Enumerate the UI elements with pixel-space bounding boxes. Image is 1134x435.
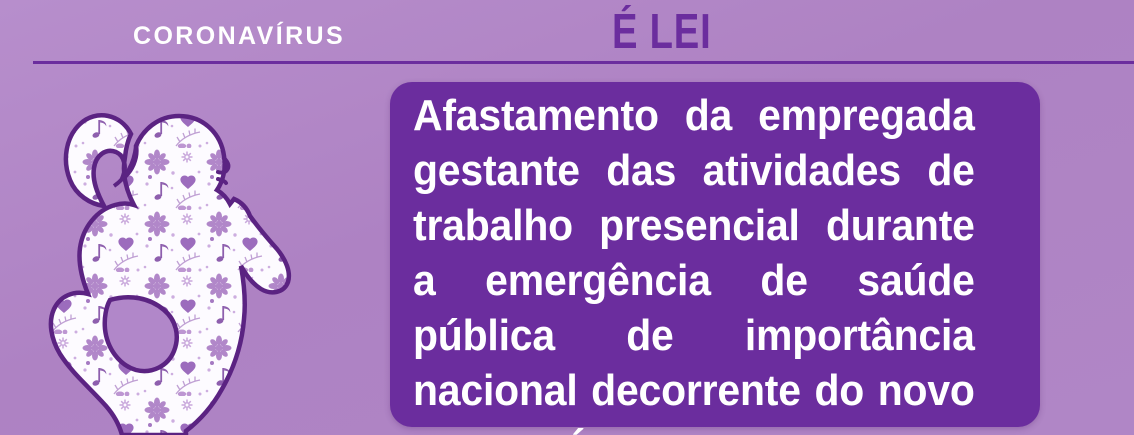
coronavirus-law-banner: CORONAVÍRUS É LEI xyxy=(0,0,1134,435)
silhouette-body xyxy=(51,115,289,435)
banner-header: CORONAVÍRUS É LEI xyxy=(0,0,1134,64)
kicker-label: CORONAVÍRUS xyxy=(133,24,345,49)
pregnant-woman-silhouette xyxy=(18,86,308,435)
law-text-body: Afastamento da empregada gestante das at… xyxy=(413,88,975,435)
law-text-card: Afastamento da empregada gestante das at… xyxy=(390,82,1040,427)
header-divider xyxy=(33,61,1134,64)
is-law-badge: É LEI xyxy=(612,8,711,57)
